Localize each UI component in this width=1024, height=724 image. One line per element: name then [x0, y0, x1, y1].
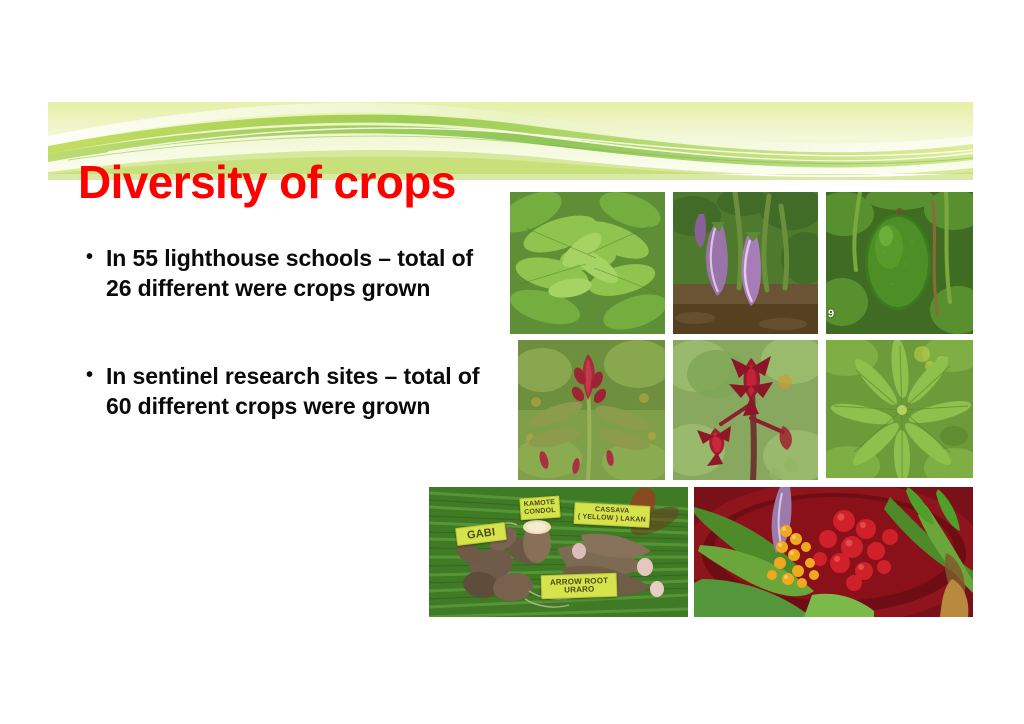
purple-eggplant-photo [673, 192, 818, 334]
root-crops-display-photo [429, 487, 688, 617]
green-gourd-photo [826, 192, 973, 334]
presentation-slide: Diversity of crops In 55 lighthouse scho… [0, 0, 1024, 724]
cassava-leaves-photo [826, 340, 973, 478]
red-amaranth-photo [518, 340, 665, 480]
bullet-item: In 55 lighthouse schools – total of 26 d… [84, 243, 504, 303]
roselle-flower-photo [673, 340, 818, 480]
bullet-item: In sentinel research sites – total of 60… [84, 361, 504, 421]
leafy-green-crop-photo [510, 192, 665, 334]
bullet-list: In 55 lighthouse schools – total of 26 d… [84, 243, 504, 421]
vegetable-basin-photo [694, 487, 973, 617]
page-title: Diversity of crops [78, 158, 456, 206]
slide-number: 9 [828, 308, 834, 320]
